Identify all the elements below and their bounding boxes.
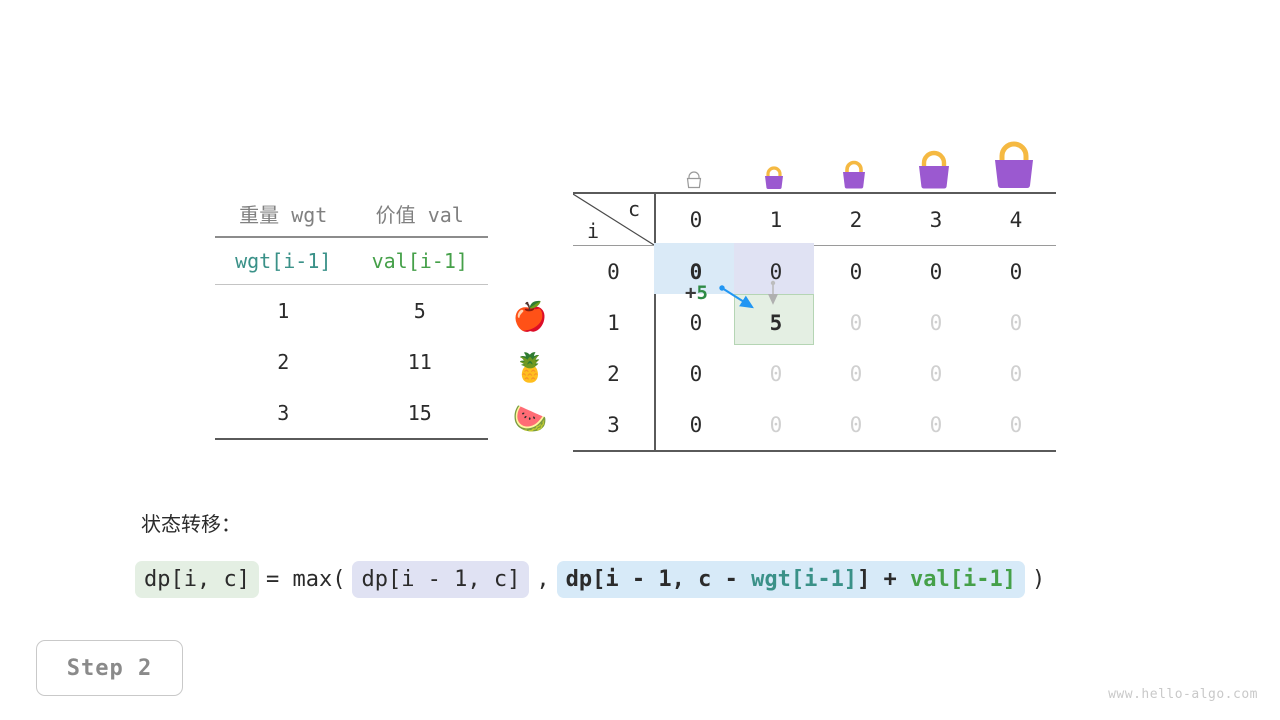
dp-cell-value: 0 xyxy=(850,311,863,335)
dp-cell-1-3: 0 xyxy=(896,297,976,348)
formula-wgt-ref: wgt[i-1] xyxy=(751,567,857,592)
dp-cell-1-2: 0 xyxy=(816,297,896,348)
apple-emoji: 🍎 xyxy=(508,303,552,331)
dp-cell-value: 0 xyxy=(850,362,863,386)
dp-cell-value: 0 xyxy=(690,362,703,386)
items-subheader-val: val[i-1] xyxy=(352,237,489,285)
dp-cell-2-0: 0 xyxy=(655,348,736,399)
gain-annotation: +5 xyxy=(685,282,708,304)
bag-icon-3 xyxy=(894,148,974,190)
items-table-header-row: 重量 wgt 价值 val xyxy=(215,190,488,237)
dp-row-header-1: 1 xyxy=(573,297,655,348)
dp-col-header-4: 4 xyxy=(976,193,1056,246)
bag-icon-4 xyxy=(974,138,1054,190)
item-weight-2: 2 xyxy=(215,336,352,387)
step-badge: Step 2 xyxy=(36,640,183,696)
dp-cell-3-0: 0 xyxy=(655,399,736,451)
items-table-subheader-row: wgt[i-1] val[i-1] xyxy=(215,237,488,285)
items-table-row: 3 15 xyxy=(215,387,488,439)
dp-table-grid: c i 0 1 2 3 4 0 0 0 0 0 0 1 0 xyxy=(573,192,1056,452)
dp-cell-0-4: 0 xyxy=(976,246,1056,298)
dp-cell-3-2: 0 xyxy=(816,399,896,451)
formula-arg-skip: dp[i - 1, c] xyxy=(352,561,529,598)
item-weight-1: 1 xyxy=(215,285,352,337)
dp-col-header-0: 0 xyxy=(655,193,736,246)
dp-cell-value: 0 xyxy=(930,362,943,386)
dp-cell-value: 0 xyxy=(930,413,943,437)
pineapple-emoji: 🍍 xyxy=(508,354,552,382)
handbag-icon xyxy=(759,163,789,190)
dp-cell-3-1: 0 xyxy=(736,399,816,451)
formula-arg-take-prefix: dp[i - 1, c - xyxy=(566,567,751,592)
dp-cell-value: 0 xyxy=(850,413,863,437)
dp-cell-3-4: 0 xyxy=(976,399,1056,451)
dp-cell-value: 0 xyxy=(770,362,783,386)
dp-cell-value: 0 xyxy=(930,311,943,335)
items-table-row: 2 11 xyxy=(215,336,488,387)
formula-arg-take-mid: ] + xyxy=(857,567,910,592)
dp-cell-3-3: 0 xyxy=(896,399,976,451)
formula-val-ref: val[i-1] xyxy=(910,567,1016,592)
dp-table-row: 2 0 0 0 0 0 xyxy=(573,348,1056,399)
dp-col-header-3: 3 xyxy=(896,193,976,246)
dp-table-row: 1 0 5 0 0 0 xyxy=(573,297,1056,348)
dp-table-row: 0 0 0 0 0 0 xyxy=(573,246,1056,298)
formula-close-paren: ) xyxy=(1025,567,1052,592)
item-weight-3: 3 xyxy=(215,387,352,439)
items-header-value: 价值 val xyxy=(352,190,489,237)
dp-cell-value: 0 xyxy=(1010,260,1023,284)
dp-corner-row-label: i xyxy=(587,219,599,243)
diagonal-divider-icon xyxy=(573,194,654,245)
formula-comma: , xyxy=(529,567,556,592)
dp-col-header-2: 2 xyxy=(816,193,896,246)
handbag-icon xyxy=(836,157,872,190)
dp-cell-value: 0 xyxy=(1010,413,1023,437)
dp-col-header-1: 1 xyxy=(736,193,816,246)
dp-cell-value: 0 xyxy=(1010,311,1023,335)
formula-operator: = max( xyxy=(259,567,352,592)
items-subheader-wgt: wgt[i-1] xyxy=(215,237,352,285)
dp-row-header-3: 3 xyxy=(573,399,655,451)
dp-cell-value: 0 xyxy=(850,260,863,284)
dp-cell-2-4: 0 xyxy=(976,348,1056,399)
items-header-weight: 重量 wgt xyxy=(215,190,352,237)
handbag-icon xyxy=(986,138,1042,190)
formula-lhs: dp[i, c] xyxy=(135,561,259,598)
dp-cell-0-2: 0 xyxy=(816,246,896,298)
items-table: 重量 wgt 价值 val wgt[i-1] val[i-1] 1 5 2 11… xyxy=(215,190,488,440)
handbag-icon xyxy=(911,148,957,190)
bag-icon-1 xyxy=(734,163,814,190)
dp-cell-1-0: 0 xyxy=(655,297,736,348)
item-value-2: 11 xyxy=(352,336,489,387)
dp-header-row: c i 0 1 2 3 4 xyxy=(573,193,1056,246)
gain-value: 5 xyxy=(696,282,707,304)
items-table-grid: 重量 wgt 价值 val wgt[i-1] val[i-1] 1 5 2 11… xyxy=(215,190,488,440)
dp-table: c i 0 1 2 3 4 0 0 0 0 0 0 1 0 xyxy=(573,192,1056,452)
formula-arg-take: dp[i - 1, c - wgt[i-1]] + val[i-1] xyxy=(557,561,1025,598)
dp-cell-value: 0 xyxy=(930,260,943,284)
dp-table-row: 3 0 0 0 0 0 xyxy=(573,399,1056,451)
dp-row-header-2: 2 xyxy=(573,348,655,399)
transition-label: 状态转移： xyxy=(141,508,241,537)
items-table-row: 1 5 xyxy=(215,285,488,337)
bag-capacity-icons xyxy=(654,126,1054,190)
bag-icon-2 xyxy=(814,157,894,190)
dp-cell-2-1: 0 xyxy=(736,348,816,399)
dp-cell-1-4: 0 xyxy=(976,297,1056,348)
bag-icon-0 xyxy=(654,170,734,190)
dp-cell-value: 0 xyxy=(770,413,783,437)
gain-plus-sign: + xyxy=(685,282,696,304)
item-value-1: 5 xyxy=(352,285,489,337)
dp-cell-value: 0 xyxy=(1010,362,1023,386)
dp-corner-col-label: c xyxy=(628,197,640,221)
handbag-outline-icon xyxy=(683,170,705,190)
dp-cell-value: 5 xyxy=(770,311,783,335)
dp-corner-cell: c i xyxy=(573,193,655,246)
item-value-3: 15 xyxy=(352,387,489,439)
dp-cell-2-2: 0 xyxy=(816,348,896,399)
dp-cell-value: 0 xyxy=(690,413,703,437)
transition-formula: dp[i, c] = max( dp[i - 1, c] , dp[i - 1,… xyxy=(135,561,1052,598)
watermark: www.hello-algo.com xyxy=(1108,687,1258,702)
dp-cell-value: 0 xyxy=(690,260,703,284)
watermelon-emoji: 🍉 xyxy=(508,405,552,433)
dp-cell-2-3: 0 xyxy=(896,348,976,399)
dp-cell-value: 0 xyxy=(690,311,703,335)
dp-row-header-0: 0 xyxy=(573,246,655,298)
dp-cell-value: 0 xyxy=(770,260,783,284)
dp-cell-0-3: 0 xyxy=(896,246,976,298)
